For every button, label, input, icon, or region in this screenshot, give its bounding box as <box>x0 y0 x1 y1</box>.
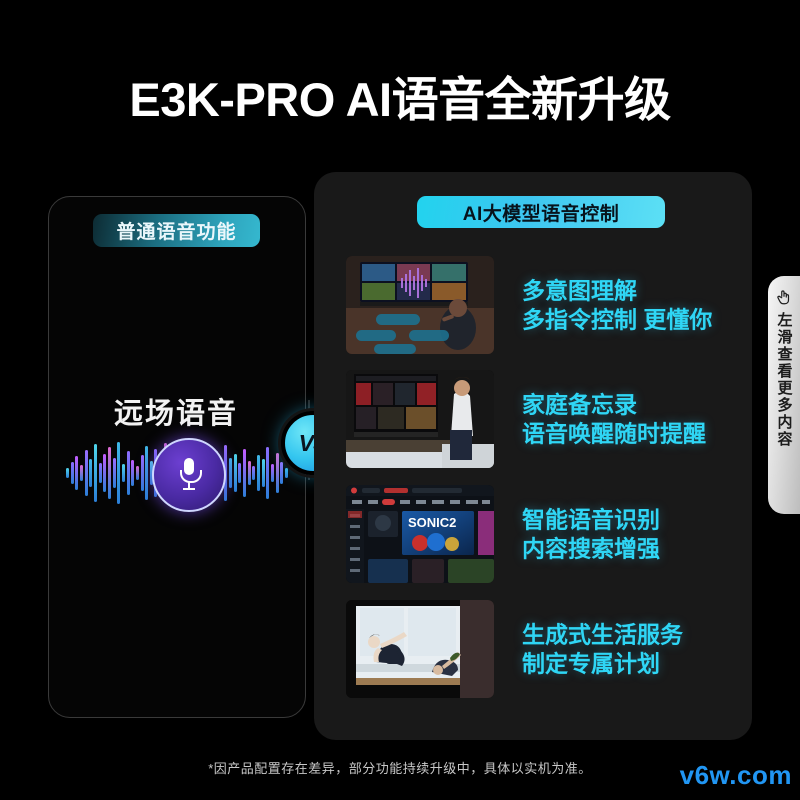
waveform-bar <box>243 449 246 497</box>
waveform-bar <box>131 460 134 486</box>
ordinary-voice-badge: 普通语音功能 <box>93 214 260 247</box>
feature-line-2: 内容搜索增强 <box>522 535 660 564</box>
waveform-bar <box>80 465 83 481</box>
watermark: v6w.com <box>680 760 792 791</box>
waveform-bar <box>117 442 120 504</box>
waveform-bar <box>127 451 130 495</box>
feature-line-1: 智能语音识别 <box>522 507 660 533</box>
svg-text:SONIC2: SONIC2 <box>408 515 456 530</box>
ai-voice-badge: AI大模型语音控制 <box>417 196 665 228</box>
feature-row: 多意图理解 多指令控制 更懂你 <box>346 256 746 356</box>
waveform-bar <box>248 461 251 485</box>
waveform-bar <box>229 458 232 488</box>
waveform-bar <box>252 466 255 480</box>
waveform-bar <box>75 456 78 490</box>
waveform-bar <box>89 459 92 487</box>
feature-line-1: 多意图理解 <box>522 278 637 304</box>
feature-line-1: 生成式生活服务 <box>522 622 683 648</box>
thumbnail-tv-ui-sonic2: SONIC2 <box>346 485 494 583</box>
feature-row: SONIC2 智能语音识别 内容搜索增强 <box>346 485 746 585</box>
swipe-left-label: 左滑查看更多内容 <box>777 312 792 448</box>
feature-line-2: 语音唤醒随时提醒 <box>522 420 706 449</box>
feature-text: 家庭备忘录 语音唤醒随时提醒 <box>522 391 706 450</box>
waveform-bar <box>266 447 269 499</box>
waveform-bar <box>136 466 139 480</box>
waveform-bar <box>108 447 111 499</box>
thumbnail-living-room-voice-bubbles <box>346 256 494 354</box>
waveform-bar <box>280 462 283 484</box>
waveform-bar <box>122 464 125 482</box>
microphone-icon <box>152 438 226 512</box>
thumbnail-man-standing-tv-content <box>346 370 494 468</box>
waveform-bar <box>271 464 274 482</box>
waveform-bar <box>94 444 97 502</box>
feature-line-2: 制定专属计划 <box>522 650 683 679</box>
feature-text: 多意图理解 多指令控制 更懂你 <box>522 277 712 336</box>
waveform-bar <box>99 463 102 483</box>
waveform-bar <box>276 453 279 493</box>
feature-line-1: 家庭备忘录 <box>522 392 637 418</box>
swipe-hand-icon <box>775 288 793 306</box>
poster-canvas: E3K-PRO AI语音全新升级 普通语音功能 远场语音 VS AI大模型语音控… <box>0 0 800 800</box>
feature-text: 生成式生活服务 制定专属计划 <box>522 621 683 680</box>
waveform-bar <box>141 455 144 491</box>
waveform-bar <box>103 454 106 492</box>
waveform-bar <box>66 468 69 478</box>
feature-text: 智能语音识别 内容搜索增强 <box>522 506 660 565</box>
waveform-bar <box>234 454 237 492</box>
waveform-bar <box>257 455 260 491</box>
feature-row: 生成式生活服务 制定专属计划 <box>346 600 746 700</box>
waveform-bar <box>262 459 265 487</box>
thumbnail-yoga-fitness <box>346 600 494 698</box>
feature-row: 家庭备忘录 语音唤醒随时提醒 <box>346 370 746 470</box>
far-field-voice-heading: 远场语音 <box>48 390 304 432</box>
waveform-bar <box>238 463 241 483</box>
waveform-bar <box>285 468 288 478</box>
waveform-bar <box>71 462 74 484</box>
waveform-bar <box>85 450 88 496</box>
waveform-bar <box>145 446 148 500</box>
swipe-left-tab[interactable]: 左滑查看更多内容 <box>768 276 800 514</box>
page-title: E3K-PRO AI语音全新升级 <box>0 76 800 123</box>
feature-line-2: 多指令控制 更懂你 <box>522 306 712 335</box>
waveform-bar <box>113 458 116 488</box>
